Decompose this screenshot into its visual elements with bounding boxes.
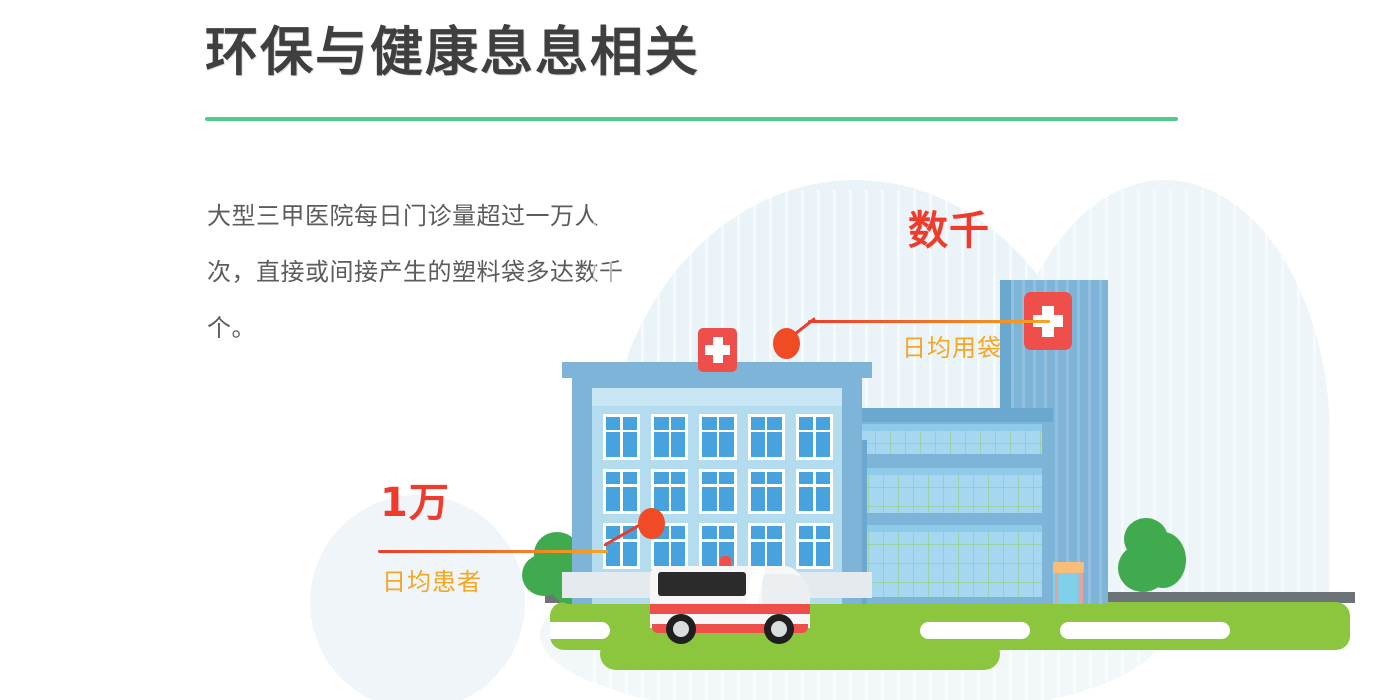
tree-icon [1118, 518, 1194, 604]
page-title: 环保与健康息息相关 [205, 24, 700, 82]
slide-root: 环保与健康息息相关 大型三甲医院每日门诊量超过一万人次，直接或间接产生的塑料袋多… [0, 0, 1400, 700]
road-dash [1060, 622, 1230, 639]
callout-bags-label: 日均用袋 [902, 328, 1002, 363]
glass-band [853, 468, 1042, 513]
callout-bags-value: 数千 [908, 198, 990, 256]
entrance-post [1079, 573, 1083, 604]
callout-bags: 数千 日均用袋 [720, 180, 1220, 360]
window [748, 414, 785, 460]
window [603, 414, 640, 460]
window [651, 414, 688, 460]
window [796, 414, 833, 460]
title-underline-rule [205, 117, 1178, 121]
window [796, 469, 833, 515]
window [748, 469, 785, 515]
road-dash [920, 622, 1030, 639]
callout-bags-marker-dot [773, 328, 800, 359]
callout-patients-marker-dot [638, 508, 665, 539]
main-building-top-band [592, 388, 842, 406]
window [699, 469, 736, 515]
callout-patients: 1万 日均患者 [360, 470, 690, 630]
glass-band [860, 424, 1042, 454]
callout-patients-value: 1万 [380, 470, 450, 528]
callout-bags-rule [808, 320, 1050, 323]
ambulance-wheel [764, 614, 794, 644]
callout-patients-label: 日均患者 [382, 562, 482, 597]
callout-patients-rule [378, 550, 608, 553]
hospital-illustration: 数千 日均用袋 1万 日均患者 [300, 150, 1400, 700]
glass-wing-roof-cap [860, 408, 1053, 422]
glass-band [853, 525, 1042, 597]
window [699, 414, 736, 460]
